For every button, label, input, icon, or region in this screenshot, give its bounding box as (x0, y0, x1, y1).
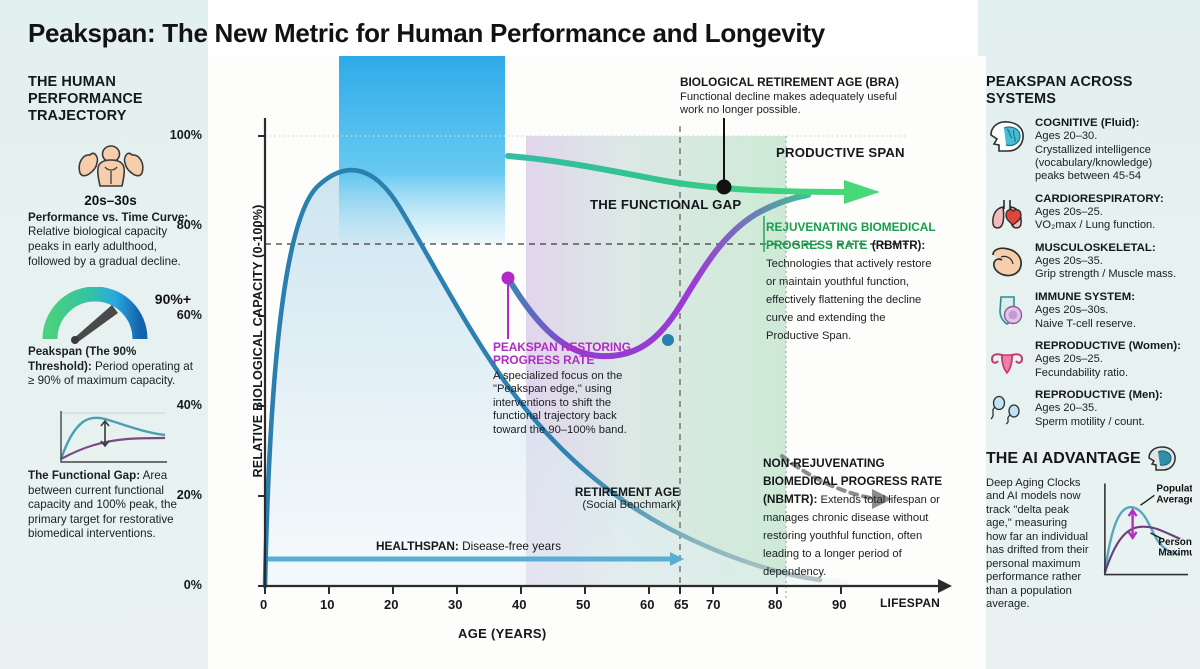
mini-chart-label-top: Population (1156, 483, 1192, 494)
annotation-bra: BIOLOGICAL RETIREMENT AGE (BRA) Function… (680, 76, 910, 117)
x-tick-0: 0 (260, 597, 267, 612)
shield-cell-icon (986, 291, 1028, 331)
left-block-trajectory: 20s–30s Performance vs. Time Curve: Rela… (28, 141, 193, 269)
x-tick-70: 70 (706, 597, 720, 612)
system-line: peaks between 45-54 (1035, 170, 1192, 183)
system-title: COGNITIVE (Fluid): (1035, 117, 1192, 130)
system-line: (vocabulary/knowledge) (1035, 157, 1192, 170)
sperm-icon (986, 389, 1028, 429)
left-block-peakspan: 90%+ Peakspan (The 90% Threshold): Perio… (28, 285, 193, 389)
system-line: VO₂max / Lung function. (1035, 219, 1192, 232)
mini-chart-label-bottom: Personal (1158, 537, 1192, 548)
y-tick-100: 100% (156, 128, 202, 142)
uterus-icon (986, 340, 1028, 380)
ai-advantage-heading: THE AI ADVANTAGE (986, 445, 1192, 473)
x-tick-10: 10 (320, 597, 334, 612)
flexing-arms-icon (72, 141, 150, 191)
bra-body: Functional decline makes adequately usef… (680, 91, 910, 118)
healthspan-rest: Disease-free years (459, 539, 561, 553)
system-text-reproductive-women: REPRODUCTIVE (Women): Ages 20s–25. Fecun… (1035, 340, 1192, 380)
annotation-peakspan-restoring: PEAKSPAN RESTORING PROGRESS RATE A speci… (493, 341, 653, 437)
label-productive-span: PRODUCTIVE SPAN (776, 145, 905, 160)
brain-head-icon (986, 117, 1028, 157)
system-title: MUSCULOSKELETAL: (1035, 242, 1192, 255)
system-line: Grip strength / Muscle mass. (1035, 268, 1192, 281)
system-item-cardiorespiratory: CARDIORESPIRATORY: Ages 20s–25. VO₂max /… (986, 193, 1192, 233)
system-item-immune: IMMUNE SYSTEM: Ages 20s–30s. Naive T-cel… (986, 291, 1192, 331)
rbmtr-abbr: (RBMTR): (872, 239, 925, 252)
svg-text:Maximum: Maximum (1158, 548, 1192, 559)
peakspan-band (339, 56, 505, 244)
system-item-reproductive-women: REPRODUCTIVE (Women): Ages 20s–25. Fecun… (986, 340, 1192, 380)
x-tick-60: 60 (640, 597, 654, 612)
system-text-musculoskeletal: MUSCULOSKELETAL: Ages 20s–35. Grip stren… (1035, 242, 1192, 282)
system-line: Naive T-cell reserve. (1035, 318, 1192, 331)
system-item-musculoskeletal: MUSCULOSKELETAL: Ages 20s–35. Grip stren… (986, 242, 1192, 282)
label-functional-gap: THE FUNCTIONAL GAP (590, 197, 741, 212)
annotation-retirement-age: RETIREMENT AGE (Social Benchmark) (530, 485, 680, 511)
left-panel-heading: THE HUMAN PERFORMANCE TRAJECTORY (28, 74, 193, 125)
annotation-nbmtr: NON-REJUVENATING BIOMEDICAL PROGRESS RAT… (763, 454, 943, 580)
peakspan-heading: PEAKSPAN RESTORING PROGRESS RATE (493, 341, 653, 368)
x-axis-end-label: LIFESPAN (880, 596, 940, 610)
system-item-cognitive: COGNITIVE (Fluid): Ages 20–30. Crystalli… (986, 117, 1192, 184)
right-sidebar-content: PEAKSPAN ACROSS SYSTEMS COGNITIVE (Fluid… (986, 74, 1192, 611)
y-tick-80: 80% (156, 218, 202, 232)
x-tick-80: 80 (768, 597, 782, 612)
lungs-heart-icon (986, 193, 1028, 233)
main-chart: 100% 80% 60% 40% 20% 0% 0 10 20 30 40 50… (208, 56, 986, 669)
x-axis-label: AGE (YEARS) (458, 626, 547, 641)
x-tick-marks (265, 586, 841, 594)
system-text-immune: IMMUNE SYSTEM: Ages 20s–30s. Naive T-cel… (1035, 291, 1192, 331)
system-line: Ages 20s–35. (1035, 255, 1192, 268)
gauge-value: 90%+ (155, 291, 191, 307)
system-line: Crystallized intelligence (1035, 144, 1192, 157)
system-title: REPRODUCTIVE (Men): (1035, 389, 1192, 402)
system-text-cardiorespiratory: CARDIORESPIRATORY: Ages 20s–25. VO₂max /… (1035, 193, 1192, 233)
retirement-heading: RETIREMENT AGE (530, 485, 680, 499)
system-item-reproductive-men: REPRODUCTIVE (Men): Ages 20–35. Sperm mo… (986, 389, 1192, 429)
ai-advantage-text: Deep Aging Clocks and AI models now trac… (986, 477, 1089, 611)
page-title: Peakspan: The New Metric for Human Perfo… (28, 18, 825, 49)
system-line: Ages 20s–25. (1035, 353, 1192, 366)
ai-mini-chart: Population Average Personal Maximum (1093, 477, 1192, 581)
left-block-gap: The Functional Gap: Area between current… (28, 405, 193, 542)
y-tick-60: 60% (156, 308, 202, 322)
retirement-sub: (Social Benchmark) (530, 499, 680, 511)
system-text-reproductive-men: REPRODUCTIVE (Men): Ages 20–35. Sperm mo… (1035, 389, 1192, 429)
x-tick-65: 65 (674, 597, 688, 612)
gauge-icon (40, 287, 150, 345)
healthspan-bold: HEALTHSPAN: (376, 539, 459, 553)
y-axis-label: RELATIVE BIOLOGICAL CAPACITY (0-100%) (251, 141, 265, 541)
x-tick-40: 40 (512, 597, 526, 612)
system-line: Ages 20s–30s. (1035, 304, 1192, 317)
gap-curve-icon (49, 405, 173, 467)
ai-brain-head-icon (1146, 445, 1178, 473)
peakspan-body: A specialized focus on the "Peakspan edg… (493, 370, 653, 437)
x-tick-90: 90 (832, 597, 846, 612)
system-text-cognitive: COGNITIVE (Fluid): Ages 20–30. Crystalli… (1035, 117, 1192, 184)
system-title: IMMUNE SYSTEM: (1035, 291, 1192, 304)
system-line: Ages 20–35. (1035, 402, 1192, 415)
y-tick-0: 0% (156, 578, 202, 592)
system-title: REPRODUCTIVE (Women): (1035, 340, 1192, 353)
system-title: CARDIORESPIRATORY: (1035, 193, 1192, 206)
x-axis-arrow (938, 579, 952, 593)
annotation-rbmtr: REJUVENATING BIOMEDICAL PROGRESS RATE (R… (766, 218, 941, 344)
system-line: Ages 20s–25. (1035, 206, 1192, 219)
x-tick-30: 30 (448, 597, 462, 612)
right-panel-heading: PEAKSPAN ACROSS SYSTEMS (986, 74, 1192, 108)
nbmtr-body: Extends total lifespan or manages chroni… (763, 494, 940, 578)
gap-text: The Functional Gap: Area between current… (28, 469, 193, 542)
rbmtr-body: Technologies that actively restore or ma… (766, 258, 931, 342)
label-healthspan: HEALTHSPAN: Disease-free years (376, 539, 561, 553)
peakspan-text: Peakspan (The 90% Threshold): Period ope… (28, 345, 193, 389)
gap-label: The Functional Gap: (28, 469, 140, 482)
ai-advantage-title: THE AI ADVANTAGE (986, 450, 1141, 468)
infographic-page: Peakspan: The New Metric for Human Perfo… (0, 0, 1200, 669)
system-line: Sperm motility / count. (1035, 416, 1192, 429)
natural-decline-marker (662, 334, 674, 346)
bra-heading: BIOLOGICAL RETIREMENT AGE (BRA) (680, 76, 910, 90)
system-line: Fecundability ratio. (1035, 367, 1192, 380)
ai-advantage-body: Deep Aging Clocks and AI models now trac… (986, 477, 1192, 611)
y-tick-40: 40% (156, 398, 202, 412)
y-tick-20: 20% (156, 488, 202, 502)
bicep-icon (986, 242, 1028, 282)
x-tick-20: 20 (384, 597, 398, 612)
trajectory-caption: 20s–30s (28, 193, 193, 208)
system-line: Ages 20–30. (1035, 130, 1192, 143)
svg-text:Average: Average (1156, 494, 1192, 505)
x-tick-50: 50 (576, 597, 590, 612)
